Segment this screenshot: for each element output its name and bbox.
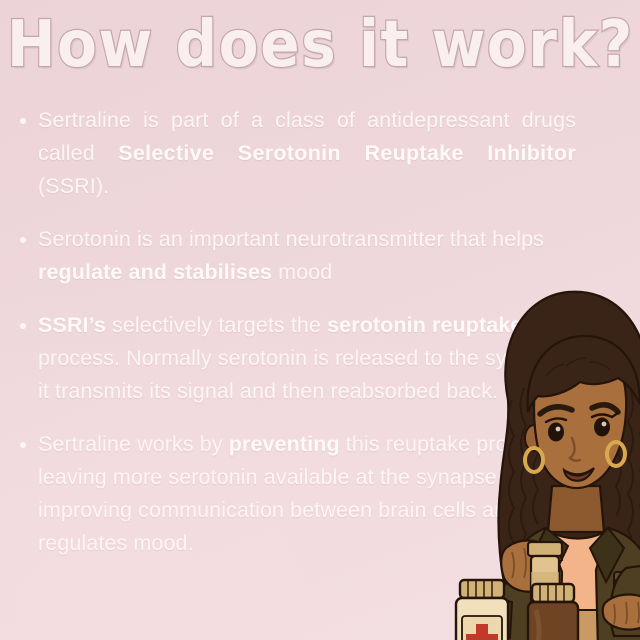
bullet-list: Sertraline is part of a class of antidep… — [16, 104, 576, 560]
title-container: How does it work? — [0, 8, 640, 74]
bullet-3-text-c: serotonin reuptake — [327, 313, 522, 337]
bullet-2-text-b: regulate and stabilises — [38, 260, 272, 284]
bullet-dot-icon — [20, 237, 26, 243]
jacket-right — [596, 528, 640, 640]
bullet-dot-icon — [20, 323, 26, 329]
bullet-1-text-b: Selective Serotonin Reuptake Inhibitor — [118, 141, 576, 165]
hand-right — [603, 595, 640, 630]
bullet-3-text-b: selectively targets the — [106, 313, 327, 337]
list-item-bullet-1: Sertraline is part of a class of antidep… — [16, 104, 576, 203]
pill-bottle-cream — [456, 580, 508, 640]
ear-right — [605, 419, 623, 445]
arm-right — [610, 566, 640, 636]
bullet-2-text-a: Serotonin is an important neurotransmitt… — [38, 227, 544, 251]
list-item-bullet-4: Sertraline works by preventing this reup… — [16, 428, 576, 560]
jacket-pocket-right — [614, 572, 640, 602]
sleeve-cuff-left — [481, 598, 512, 640]
eyebrow-right — [592, 405, 618, 412]
list-item-bullet-3: SSRI’s selectively targets the serotonin… — [16, 309, 576, 408]
bullet-4-text-b: preventing — [229, 432, 340, 456]
jacket-lapel-right — [590, 528, 624, 582]
pill-bottle-brown — [528, 584, 578, 640]
bullet-3-text-a: SSRI’s — [38, 313, 106, 337]
bullet-1-text-c: (SSRI). — [38, 174, 109, 198]
eye-right — [594, 418, 610, 437]
bullet-3-text-d: process. Normally serotonin is released … — [38, 346, 572, 403]
list-item-bullet-2: Serotonin is an important neurotransmitt… — [16, 223, 576, 289]
arm-left — [494, 574, 540, 640]
red-cross-icon — [466, 624, 498, 640]
jacket-pocket-left — [522, 576, 554, 606]
counter — [492, 610, 640, 640]
earring-right-icon — [607, 442, 625, 466]
bullet-4-text-a: Sertraline works by — [38, 432, 229, 456]
bullet-2-text-c: mood — [272, 260, 332, 284]
bullet-dot-icon — [20, 442, 26, 448]
bullet-dot-icon — [20, 118, 26, 124]
page-title: How does it work? — [6, 8, 633, 82]
slide-canvas: How does it work? Sertraline is part of … — [0, 0, 640, 640]
